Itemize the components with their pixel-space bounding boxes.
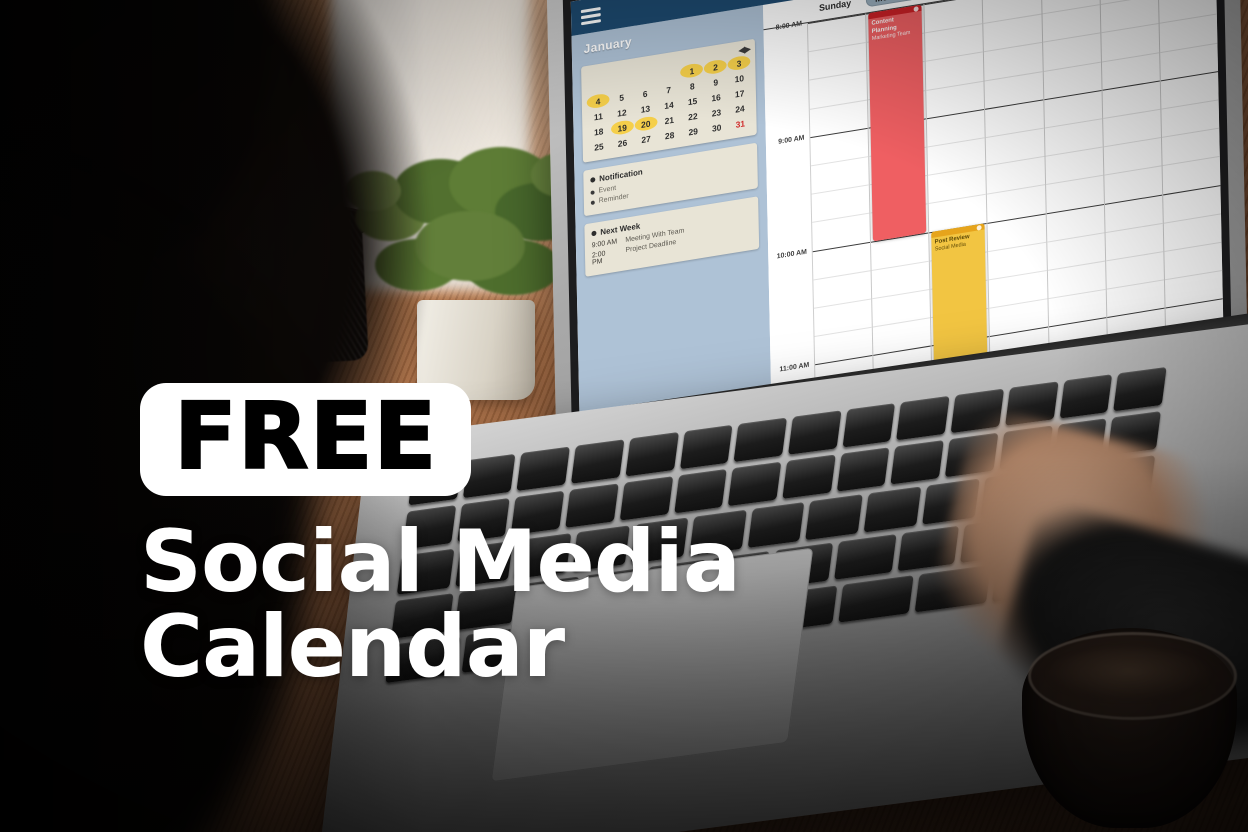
- poster-canvas: Today Day Week Month: [0, 0, 1248, 832]
- poster-headline: Social Media Calendar: [140, 520, 940, 690]
- headline-line-2: Calendar: [140, 605, 940, 690]
- free-badge: FREE: [140, 383, 471, 496]
- headline-line-1: Social Media: [140, 520, 940, 605]
- text-overlay: FREE Social Media Calendar: [0, 0, 1248, 832]
- free-badge-label: FREE: [174, 393, 437, 480]
